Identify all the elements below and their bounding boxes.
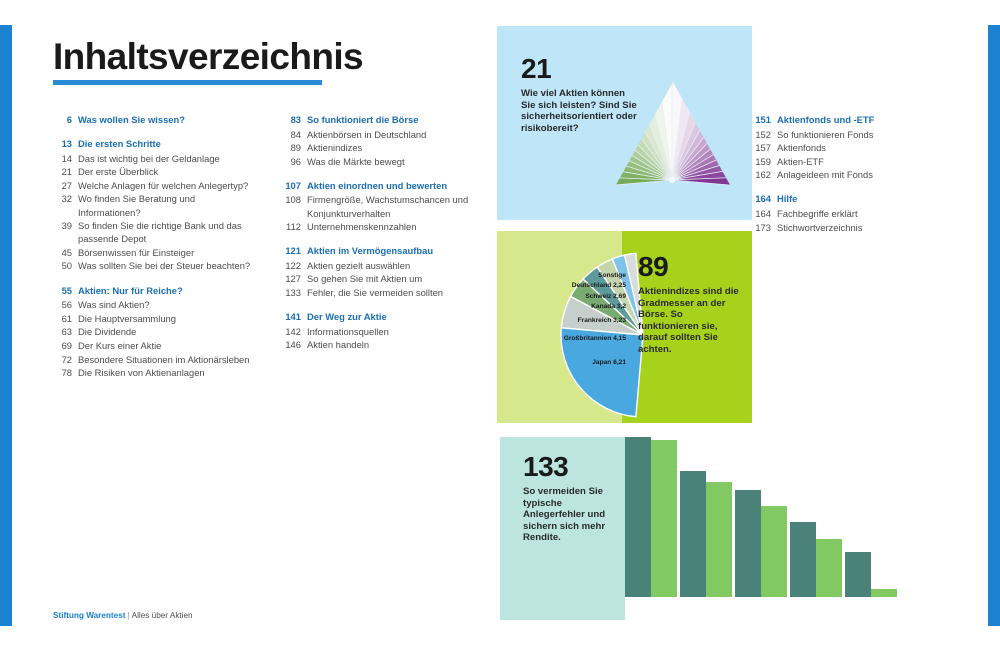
toc-entry[interactable]: 39So finden Sie die richtige Bank und da… bbox=[58, 219, 258, 245]
toc-entry[interactable]: 84Aktienbörsen in Deutschland bbox=[282, 128, 492, 141]
toc-entry-title: Die Hauptversammlung bbox=[78, 312, 176, 325]
toc-entry-title: Aktienindizes bbox=[307, 141, 362, 154]
toc-page-number: 6 bbox=[58, 113, 72, 126]
toc-entry[interactable]: 127So gehen Sie mit Aktien um bbox=[282, 272, 492, 285]
toc-heading-entry[interactable]: 141Der Weg zur Aktie bbox=[282, 310, 492, 323]
toc-group: 6Was wollen Sie wissen? bbox=[58, 113, 258, 126]
toc-group: 107Aktien einordnen und bewerten108Firme… bbox=[282, 179, 492, 233]
toc-page-number: 151 bbox=[752, 113, 771, 126]
toc-page-number: 14 bbox=[58, 152, 72, 165]
toc-entry[interactable]: 21Der erste Überblick bbox=[58, 165, 258, 178]
bar bbox=[761, 506, 787, 597]
toc-entry-title: So finden Sie die richtige Bank und das … bbox=[78, 219, 258, 245]
toc-page-number: 133 bbox=[282, 286, 301, 299]
fan-origin bbox=[669, 177, 675, 183]
toc-entry[interactable]: 69Der Kurs einer Aktie bbox=[58, 339, 258, 352]
bar bbox=[651, 440, 677, 597]
toc-page-number: 108 bbox=[282, 193, 301, 219]
toc-entry-title: Unternehmenskennzahlen bbox=[307, 220, 416, 233]
toc-page-number: 69 bbox=[58, 339, 72, 352]
footer-brand: Stiftung Warentest bbox=[53, 611, 125, 620]
toc-entry-title: Welche Anlagen für welchen Anlegertyp? bbox=[78, 179, 248, 192]
left-edge-rule bbox=[0, 25, 12, 626]
toc-heading-entry[interactable]: 83So funktioniert die Börse bbox=[282, 113, 492, 126]
toc-entry-title: Aktienfonds bbox=[777, 141, 826, 154]
pie-slice-label: Sonstige bbox=[598, 272, 626, 279]
toc-entry-title: Stichwortverzeichnis bbox=[777, 221, 862, 234]
toc-entry[interactable]: 159Aktien-ETF bbox=[752, 155, 962, 168]
pie-slice-label: Japan 6,21 bbox=[592, 359, 626, 366]
bar bbox=[625, 437, 651, 597]
toc-entry[interactable]: 78Die Risiken von Aktienanlagen bbox=[58, 366, 258, 379]
toc-heading-entry[interactable]: 107Aktien einordnen und bewerten bbox=[282, 179, 492, 192]
toc-entry-title: Börsenwissen für Einsteiger bbox=[78, 246, 194, 259]
toc-page-number: 32 bbox=[58, 192, 72, 218]
toc-entry-title: Der Weg zur Aktie bbox=[307, 310, 387, 323]
toc-entry[interactable]: 152So funktionieren Fonds bbox=[752, 128, 962, 141]
toc-page-number: 84 bbox=[282, 128, 301, 141]
toc-entry[interactable]: 157Aktienfonds bbox=[752, 141, 962, 154]
toc-page-number: 56 bbox=[58, 298, 72, 311]
bar bbox=[816, 539, 842, 597]
panel-133-number: 133 bbox=[523, 453, 568, 481]
toc-column-2: 83So funktioniert die Börse84Aktienbörse… bbox=[282, 113, 492, 362]
toc-entry-title: So gehen Sie mit Aktien um bbox=[307, 272, 422, 285]
toc-column-1: 6Was wollen Sie wissen?13Die ersten Schr… bbox=[58, 113, 258, 390]
toc-entry[interactable]: 32Wo finden Sie Beratung und Information… bbox=[58, 192, 258, 218]
toc-entry-title: Aktien-ETF bbox=[777, 155, 824, 168]
toc-entry[interactable]: 162Anlageideen mit Fonds bbox=[752, 168, 962, 181]
pie-label-group: SonstigeDeutschland 2,25Schweiz 2,69Kana… bbox=[497, 231, 626, 423]
toc-page-number: 39 bbox=[58, 219, 72, 245]
toc-entry-title: Fachbegriffe erklärt bbox=[777, 207, 858, 220]
toc-column-3: 151Aktienfonds und -ETF152So funktionier… bbox=[752, 113, 962, 245]
toc-entry[interactable]: 173Stichwortverzeichnis bbox=[752, 221, 962, 234]
toc-entry-title: Aktien: Nur für Reiche? bbox=[78, 284, 183, 297]
toc-group: 55Aktien: Nur für Reiche?56Was sind Akti… bbox=[58, 284, 258, 380]
toc-heading-entry[interactable]: 164Hilfe bbox=[752, 192, 962, 205]
pie-slice-label: Großbritannien 4,15 bbox=[564, 335, 626, 342]
toc-page-number: 146 bbox=[282, 338, 301, 351]
toc-heading-entry[interactable]: 55Aktien: Nur für Reiche? bbox=[58, 284, 258, 297]
toc-group: 83So funktioniert die Börse84Aktienbörse… bbox=[282, 113, 492, 168]
footer: Stiftung Warentest|Alles über Aktien bbox=[53, 611, 193, 620]
toc-page-number: 141 bbox=[282, 310, 301, 323]
toc-entry[interactable]: 164Fachbegriffe erklärt bbox=[752, 207, 962, 220]
toc-entry-title: Was sollten Sie bei der Steuer beachten? bbox=[78, 259, 250, 272]
toc-entry-title: Besondere Situationen im Aktionärsleben bbox=[78, 353, 249, 366]
panel-chapter-21[interactable]: 21 Wie viel Aktien können Sie sich leist… bbox=[497, 26, 752, 220]
toc-entry[interactable]: 72Besondere Situationen im Aktionärslebe… bbox=[58, 353, 258, 366]
toc-entry-title: Aktien im Vermögensaufbau bbox=[307, 244, 433, 257]
bar bbox=[845, 552, 871, 597]
panel-89-number: 89 bbox=[638, 253, 668, 281]
toc-page-number: 159 bbox=[752, 155, 771, 168]
toc-entry[interactable]: 50Was sollten Sie bei der Steuer beachte… bbox=[58, 259, 258, 272]
toc-entry-title: Aktienbörsen in Deutschland bbox=[307, 128, 426, 141]
toc-entry-title: Hilfe bbox=[777, 192, 797, 205]
toc-page-number: 78 bbox=[58, 366, 72, 379]
page-title: Inhaltsverzeichnis bbox=[53, 38, 363, 75]
bar bbox=[735, 490, 761, 597]
toc-page-number: 27 bbox=[58, 179, 72, 192]
toc-entry[interactable]: 142Informationsquellen bbox=[282, 325, 492, 338]
toc-entry[interactable]: 122Aktien gezielt auswählen bbox=[282, 259, 492, 272]
toc-page-number: 63 bbox=[58, 325, 72, 338]
toc-page-number: 173 bbox=[752, 221, 771, 234]
toc-page-number: 13 bbox=[58, 137, 72, 150]
toc-entry-title: Aktien gezielt auswählen bbox=[307, 259, 410, 272]
toc-group: 121Aktien im Vermögensaufbau122Aktien ge… bbox=[282, 244, 492, 299]
toc-entry-title: So funktionieren Fonds bbox=[777, 128, 873, 141]
pie-slice-label: Kanada 3,2 bbox=[591, 303, 626, 310]
toc-page-number: 89 bbox=[282, 141, 301, 154]
toc-entry-title: Aktienfonds und -ETF bbox=[777, 113, 874, 126]
toc-entry-title: Die Dividende bbox=[78, 325, 136, 338]
toc-page-number: 72 bbox=[58, 353, 72, 366]
bar bbox=[680, 471, 706, 597]
toc-page-number: 55 bbox=[58, 284, 72, 297]
toc-page-number: 96 bbox=[282, 155, 301, 168]
pie-slice-label: Frankreich 3,23 bbox=[578, 317, 626, 324]
right-edge-rule bbox=[988, 25, 1000, 626]
panel-chapter-133[interactable]: 133 So vermeiden Sie typische Anlegerfeh… bbox=[500, 437, 625, 620]
toc-entry[interactable]: 108Firmengröße, Wachstumschancen und Kon… bbox=[282, 193, 492, 219]
toc-page-number: 61 bbox=[58, 312, 72, 325]
toc-entry-title: Was die Märkte bewegt bbox=[307, 155, 405, 168]
toc-entry-title: Informationsquellen bbox=[307, 325, 389, 338]
toc-page-number: 127 bbox=[282, 272, 301, 285]
toc-page-number: 21 bbox=[58, 165, 72, 178]
toc-page-number: 45 bbox=[58, 246, 72, 259]
toc-page-number: 121 bbox=[282, 244, 301, 257]
pie-slice-label: Schweiz 2,69 bbox=[585, 293, 626, 300]
toc-entry[interactable]: 112Unternehmenskennzahlen bbox=[282, 220, 492, 233]
toc-entry[interactable]: 27Welche Anlagen für welchen Anlegertyp? bbox=[58, 179, 258, 192]
toc-group: 151Aktienfonds und -ETF152So funktionier… bbox=[752, 113, 962, 181]
toc-entry-title: Aktien einordnen und bewerten bbox=[307, 179, 447, 192]
bar bbox=[871, 589, 897, 597]
toc-entry-title: Der Kurs einer Aktie bbox=[78, 339, 161, 352]
toc-heading-entry[interactable]: 13Die ersten Schritte bbox=[58, 137, 258, 150]
toc-page-number: 142 bbox=[282, 325, 301, 338]
toc-entry-title: Was wollen Sie wissen? bbox=[78, 113, 185, 126]
toc-group: 141Der Weg zur Aktie142Informationsquell… bbox=[282, 310, 492, 351]
panel-21-number: 21 bbox=[521, 55, 551, 83]
toc-page-number: 112 bbox=[282, 220, 301, 233]
toc-entry-title: Was sind Aktien? bbox=[78, 298, 150, 311]
toc-entry-title: Die Risiken von Aktienanlagen bbox=[78, 366, 205, 379]
toc-entry[interactable]: 63Die Dividende bbox=[58, 325, 258, 338]
toc-heading-entry[interactable]: 6Was wollen Sie wissen? bbox=[58, 113, 258, 126]
toc-page-number: 157 bbox=[752, 141, 771, 154]
bar bbox=[790, 522, 816, 597]
toc-page-number: 50 bbox=[58, 259, 72, 272]
toc-entry-title: Der erste Überblick bbox=[78, 165, 158, 178]
panel-chapter-89[interactable]: SonstigeDeutschland 2,25Schweiz 2,69Kana… bbox=[497, 231, 752, 423]
toc-entry-title: Anlageideen mit Fonds bbox=[777, 168, 873, 181]
panel-89-text: Aktienindizes sind die Gradmesser an der… bbox=[638, 286, 742, 356]
footer-separator: | bbox=[127, 611, 129, 620]
toc-group: 164Hilfe164Fachbegriffe erklärt173Stichw… bbox=[752, 192, 962, 233]
footer-subtitle: Alles über Aktien bbox=[132, 611, 193, 620]
toc-entry[interactable]: 61Die Hauptversammlung bbox=[58, 312, 258, 325]
toc-page-number: 107 bbox=[282, 179, 301, 192]
page-root: Inhaltsverzeichnis 6Was wollen Sie wisse… bbox=[0, 0, 1000, 651]
toc-page-number: 152 bbox=[752, 128, 771, 141]
pie-slice-label: Deutschland 2,25 bbox=[572, 282, 626, 289]
toc-heading-entry[interactable]: 121Aktien im Vermögensaufbau bbox=[282, 244, 492, 257]
toc-entry-title: Das ist wichtig bei der Geldanlage bbox=[78, 152, 220, 165]
risk-fan-triangle-chart bbox=[597, 80, 749, 216]
toc-group: 13Die ersten Schritte14Das ist wichtig b… bbox=[58, 137, 258, 272]
toc-entry-title: Firmengröße, Wachstumschancen und Konjun… bbox=[307, 193, 492, 219]
toc-entry[interactable]: 56Was sind Aktien? bbox=[58, 298, 258, 311]
toc-entry-title: Die ersten Schritte bbox=[78, 137, 161, 150]
toc-entry[interactable]: 89Aktienindizes bbox=[282, 141, 492, 154]
toc-entry-title: So funktioniert die Börse bbox=[307, 113, 418, 126]
panel-133-text: So vermeiden Sie typische Anlegerfehler … bbox=[523, 486, 619, 544]
toc-page-number: 162 bbox=[752, 168, 771, 181]
toc-entry[interactable]: 146Aktien handeln bbox=[282, 338, 492, 351]
bar bbox=[706, 482, 732, 597]
toc-entry[interactable]: 14Das ist wichtig bei der Geldanlage bbox=[58, 152, 258, 165]
toc-entry[interactable]: 133Fehler, die Sie vermeiden sollten bbox=[282, 286, 492, 299]
toc-page-number: 164 bbox=[752, 192, 771, 205]
anlegerfehler-bar-chart bbox=[625, 437, 930, 620]
risk-fan-icon bbox=[597, 80, 749, 216]
toc-heading-entry[interactable]: 151Aktienfonds und -ETF bbox=[752, 113, 962, 126]
toc-entry[interactable]: 96Was die Märkte bewegt bbox=[282, 155, 492, 168]
toc-page-number: 122 bbox=[282, 259, 301, 272]
toc-entry-title: Aktien handeln bbox=[307, 338, 369, 351]
title-underline bbox=[53, 80, 322, 85]
toc-entry[interactable]: 45Börsenwissen für Einsteiger bbox=[58, 246, 258, 259]
toc-entry-title: Fehler, die Sie vermeiden sollten bbox=[307, 286, 443, 299]
toc-page-number: 164 bbox=[752, 207, 771, 220]
toc-page-number: 83 bbox=[282, 113, 301, 126]
toc-entry-title: Wo finden Sie Beratung und Informationen… bbox=[78, 192, 258, 218]
